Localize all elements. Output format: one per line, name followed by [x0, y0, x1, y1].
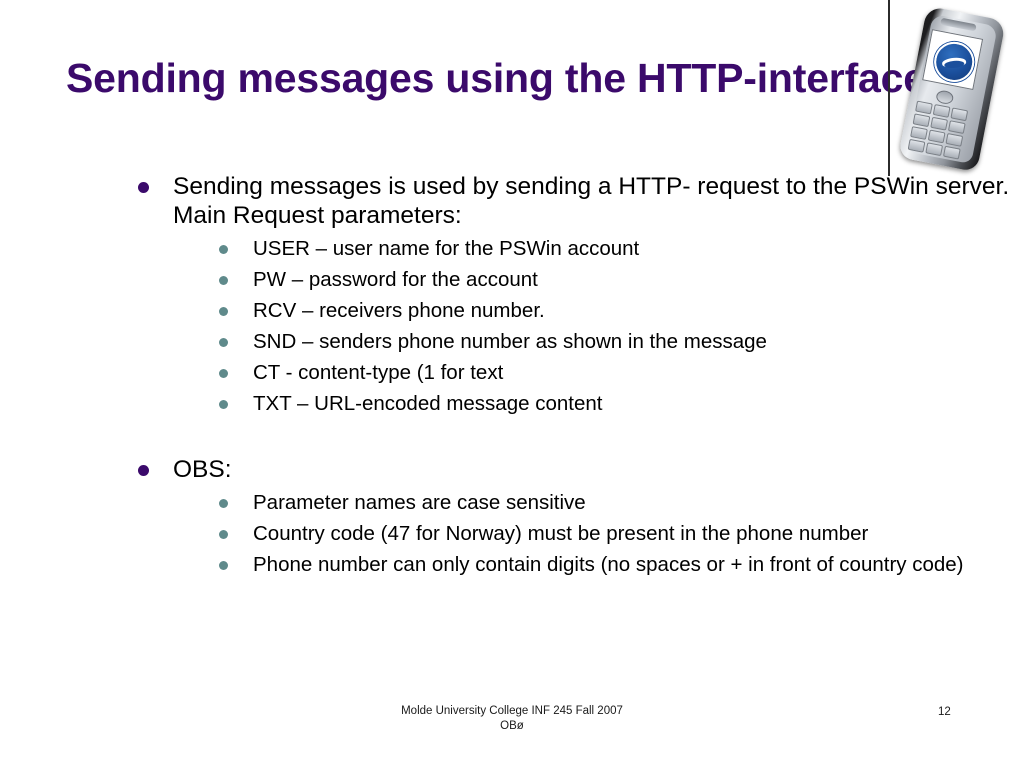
list-item: SND – senders phone number as shown in t… — [173, 326, 1020, 357]
keypad-key — [948, 120, 966, 134]
list-item: TXT – URL-encoded message content — [173, 388, 1020, 419]
sub-bullet-text: PW – password for the account — [253, 264, 1020, 295]
sub-bullet-marker-icon — [219, 276, 228, 285]
sub-bullet-marker-icon — [219, 307, 228, 316]
list-item: Phone number can only contain digits (no… — [173, 549, 1020, 580]
bullet-list-level1: Sending messages is used by sending a HT… — [130, 172, 1020, 580]
mobile-phone-image — [900, 6, 1008, 172]
list-item: PW – password for the account — [173, 264, 1020, 295]
phone-screen — [922, 29, 983, 90]
sub-bullet-text: SND – senders phone number as shown in t… — [253, 326, 1020, 357]
bullet-list-level2-parameters: USER – user name for the PSWin account P… — [173, 233, 1020, 419]
keypad-key — [913, 113, 931, 127]
footer-line-1: Molde University College INF 245 Fall 20… — [401, 705, 623, 717]
keypad-key — [950, 107, 968, 121]
sub-bullet-marker-icon — [219, 245, 228, 254]
sub-bullet-text: USER – user name for the PSWin account — [253, 233, 1020, 264]
keypad-key — [933, 104, 951, 118]
keypad-key — [930, 117, 948, 131]
sub-bullet-marker-icon — [219, 530, 228, 539]
decorative-vertical-rule — [888, 0, 890, 176]
bullet-item-intro: Sending messages is used by sending a HT… — [130, 172, 1020, 419]
slide-number: 12 — [938, 705, 968, 720]
bullet-text: OBS: — [173, 456, 232, 483]
sub-bullet-marker-icon — [219, 400, 228, 409]
bullet-marker-icon — [138, 182, 149, 193]
sub-bullet-marker-icon — [219, 561, 228, 570]
sub-bullet-text: TXT – URL-encoded message content — [253, 388, 1020, 419]
bullet-list-level2-notes: Parameter names are case sensitive Count… — [173, 487, 1020, 580]
slide: Sending messages using the HTTP-interfac… — [0, 0, 1024, 768]
list-item: USER – user name for the PSWin account — [173, 233, 1020, 264]
list-item: RCV – receivers phone number. — [173, 295, 1020, 326]
phone-body-wrapper — [898, 6, 1006, 172]
keypad-key — [915, 101, 933, 115]
sub-bullet-text: CT - content-type (1 for text — [253, 357, 1020, 388]
footer-line-2: OBø — [0, 719, 1024, 734]
page-title: Sending messages using the HTTP-interfac… — [66, 52, 936, 104]
sub-bullet-text: Country code (47 for Norway) must be pre… — [253, 518, 1020, 549]
sub-bullet-marker-icon — [219, 369, 228, 378]
phone-keypad — [908, 101, 969, 160]
logo-emblem-icon — [931, 38, 978, 85]
sub-bullet-marker-icon — [219, 499, 228, 508]
slide-body: Sending messages is used by sending a HT… — [130, 172, 1020, 582]
sub-bullet-text: RCV – receivers phone number. — [253, 295, 1020, 326]
list-item: Country code (47 for Norway) must be pre… — [173, 518, 1020, 549]
list-item: CT - content-type (1 for text — [173, 357, 1020, 388]
sub-bullet-marker-icon — [219, 338, 228, 347]
list-item: Parameter names are case sensitive — [173, 487, 1020, 518]
slide-footer: Molde University College INF 245 Fall 20… — [0, 704, 1024, 734]
sub-bullet-text: Phone number can only contain digits (no… — [253, 549, 1020, 580]
spacer — [130, 421, 1020, 455]
bullet-marker-icon — [138, 465, 149, 476]
keypad-key — [910, 126, 928, 140]
logo-swoosh-shape — [942, 57, 967, 68]
sub-bullet-text: Parameter names are case sensitive — [253, 487, 1020, 518]
keypad-key — [928, 130, 946, 144]
bullet-text: Sending messages is used by sending a HT… — [173, 173, 1009, 229]
keypad-key — [945, 133, 963, 147]
bullet-item-obs: OBS: Parameter names are case sensitive … — [130, 455, 1020, 580]
